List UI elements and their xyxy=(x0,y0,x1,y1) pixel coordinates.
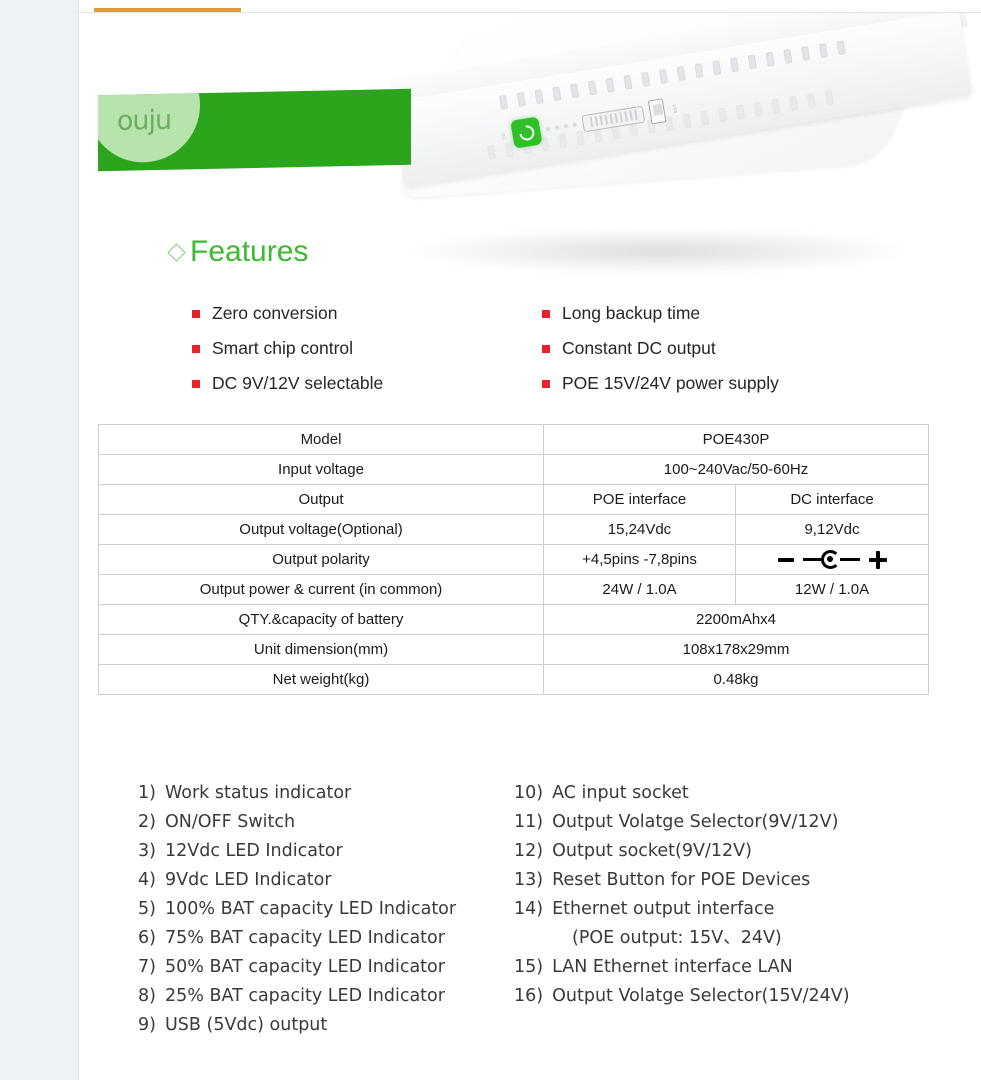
features-heading: Features xyxy=(170,235,308,269)
legend-sub-note: (POE output: 15V、24V) xyxy=(514,924,959,953)
feature-label: Constant DC output xyxy=(562,338,716,360)
legend-label: ON/OFF Switch xyxy=(165,808,295,837)
table-row: QTY.&capacity of battery 2200mAhx4 xyxy=(99,605,929,635)
list-item: 6) 75% BAT capacity LED Indicator xyxy=(129,924,514,953)
feature-item: Constant DC output xyxy=(542,338,952,360)
panel-vent-slot xyxy=(582,105,646,132)
usb-side-label: USB xyxy=(672,104,678,114)
spec-value-dc: 12W / 1.0A xyxy=(736,575,929,605)
product-photo: DC USB xyxy=(379,18,939,288)
spec-label: Output voltage(Optional) xyxy=(99,515,544,545)
legend-number: 1) xyxy=(129,779,165,808)
spec-label: Output polarity xyxy=(99,545,544,575)
bullet-icon xyxy=(192,380,200,388)
bullet-icon xyxy=(192,310,200,318)
feature-item: POE 15V/24V power supply xyxy=(542,373,952,395)
legend-column-left: 1) Work status indicator 2) ON/OFF Switc… xyxy=(129,779,514,1040)
product-shadow xyxy=(409,228,909,274)
list-item: 14) Ethernet output interface xyxy=(514,895,959,924)
legend-number: 16) xyxy=(514,982,552,1011)
spec-value: 0.48kg xyxy=(544,665,929,695)
legend-label: 100% BAT capacity LED Indicator xyxy=(165,895,456,924)
active-tab-indicator[interactable] xyxy=(94,0,241,12)
list-item: 11) Output Volatge Selector(9V/12V) xyxy=(514,808,959,837)
spec-label: QTY.&capacity of battery xyxy=(99,605,544,635)
spec-value-poe: POE interface xyxy=(544,485,736,515)
legend-number: 12) xyxy=(514,837,552,866)
feature-label: POE 15V/24V power supply xyxy=(562,373,779,395)
spec-label: Net weight(kg) xyxy=(99,665,544,695)
legend-label: Ethernet output interface xyxy=(552,895,774,924)
legend-label: Output Volatge Selector(15V/24V) xyxy=(552,982,849,1011)
table-row: Output POE interface DC interface xyxy=(99,485,929,515)
list-item: 7) 50% BAT capacity LED Indicator xyxy=(129,953,514,982)
legend-number: 8) xyxy=(129,982,165,1011)
spec-label: Unit dimension(mm) xyxy=(99,635,544,665)
spec-label: Input voltage xyxy=(99,455,544,485)
specification-table: Model POE430P Input voltage 100~240Vac/5… xyxy=(98,424,929,695)
legend-number: 14) xyxy=(514,895,552,924)
legend-label: 9Vdc LED Indicator xyxy=(165,866,332,895)
legend-label: USB (5Vdc) output xyxy=(165,1011,327,1040)
list-item: 16) Output Volatge Selector(15V/24V) xyxy=(514,982,959,1011)
page-root: DC USB ouju xyxy=(0,0,981,1080)
panel-side-label: DC xyxy=(501,133,507,140)
table-row: Input voltage 100~240Vac/50-60Hz xyxy=(99,455,929,485)
table-row: Unit dimension(mm) 108x178x29mm xyxy=(99,635,929,665)
list-item: 9) USB (5Vdc) output xyxy=(129,1011,514,1040)
usb-port-icon xyxy=(648,98,667,124)
legend-label: Work status indicator xyxy=(165,779,351,808)
spec-value-poe: 24W / 1.0A xyxy=(544,575,736,605)
legend-number: 6) xyxy=(129,924,165,953)
table-row: Output polarity +4,5pins -7,8pins xyxy=(99,545,929,575)
list-item: 10) AC input socket xyxy=(514,779,959,808)
legend-number: 5) xyxy=(129,895,165,924)
legend-label: 75% BAT capacity LED Indicator xyxy=(165,924,445,953)
legend-number: 13) xyxy=(514,866,552,895)
spec-value-dc: 9,12Vdc xyxy=(736,515,929,545)
brand-badge-text: ouju xyxy=(117,105,171,163)
legend-number: 9) xyxy=(129,1011,165,1040)
feature-item: Smart chip control xyxy=(192,338,542,360)
port-legend: 1) Work status indicator 2) ON/OFF Switc… xyxy=(129,779,959,1040)
legend-label: AC input socket xyxy=(552,779,689,808)
legend-column-right: 10) AC input socket 11) Output Volatge S… xyxy=(514,779,959,1040)
legend-label: 50% BAT capacity LED Indicator xyxy=(165,953,445,982)
table-row: Output power & current (in common) 24W /… xyxy=(99,575,929,605)
table-row: Model POE430P xyxy=(99,425,929,455)
spec-label: Output xyxy=(99,485,544,515)
feature-item: Zero conversion xyxy=(192,303,542,325)
browser-tab-strip xyxy=(79,0,981,13)
list-item: 3) 12Vdc LED Indicator xyxy=(129,837,514,866)
page-content: DC USB ouju xyxy=(79,13,981,1080)
brand-banner: ouju xyxy=(98,89,411,172)
list-item: 13) Reset Button for POE Devices xyxy=(514,866,959,895)
legend-number: 15) xyxy=(514,953,552,982)
legend-number: 2) xyxy=(129,808,165,837)
features-title: Features xyxy=(190,235,308,269)
spec-value: 100~240Vac/50-60Hz xyxy=(544,455,929,485)
legend-number: 7) xyxy=(129,953,165,982)
dc-polarity-symbol-icon xyxy=(740,549,924,571)
spec-value: POE430P xyxy=(544,425,929,455)
bullet-icon xyxy=(542,345,550,353)
list-item: 1) Work status indicator xyxy=(129,779,514,808)
bullet-icon xyxy=(542,380,550,388)
legend-label: 25% BAT capacity LED Indicator xyxy=(165,982,445,1011)
spec-value-poe: +4,5pins -7,8pins xyxy=(544,545,736,575)
list-item: 8) 25% BAT capacity LED Indicator xyxy=(129,982,514,1011)
features-list: Zero conversion Long backup time Smart c… xyxy=(192,303,952,395)
legend-number: 10) xyxy=(514,779,552,808)
spec-value: 108x178x29mm xyxy=(544,635,929,665)
bullet-icon xyxy=(192,345,200,353)
spec-value-dc-polarity xyxy=(736,545,929,575)
feature-label: Long backup time xyxy=(562,303,700,325)
diamond-icon xyxy=(167,243,185,261)
list-item: 4) 9Vdc LED Indicator xyxy=(129,866,514,895)
spec-value-dc: DC interface xyxy=(736,485,929,515)
list-item: 15) LAN Ethernet interface LAN xyxy=(514,953,959,982)
legend-label: Output socket(9V/12V) xyxy=(552,837,752,866)
spec-label: Output power & current (in common) xyxy=(99,575,544,605)
legend-label: LAN Ethernet interface LAN xyxy=(552,953,793,982)
legend-label: Reset Button for POE Devices xyxy=(552,866,810,895)
table-row: Net weight(kg) 0.48kg xyxy=(99,665,929,695)
brand-badge: ouju xyxy=(98,89,200,164)
table-row: Output voltage(Optional) 15,24Vdc 9,12Vd… xyxy=(99,515,929,545)
legend-number: 3) xyxy=(129,837,165,866)
bullet-icon xyxy=(542,310,550,318)
left-gutter xyxy=(0,0,79,1080)
feature-item: Long backup time xyxy=(542,303,952,325)
spec-value-poe: 15,24Vdc xyxy=(544,515,736,545)
legend-number: 4) xyxy=(129,866,165,895)
feature-label: Zero conversion xyxy=(212,303,337,325)
spec-label: Model xyxy=(99,425,544,455)
power-button-icon xyxy=(511,116,543,148)
spec-value: 2200mAhx4 xyxy=(544,605,929,635)
feature-label: Smart chip control xyxy=(212,338,353,360)
legend-label: 12Vdc LED Indicator xyxy=(165,837,343,866)
legend-label: Output Volatge Selector(9V/12V) xyxy=(552,808,838,837)
legend-number: 11) xyxy=(514,808,552,837)
feature-item: DC 9V/12V selectable xyxy=(192,373,542,395)
feature-label: DC 9V/12V selectable xyxy=(212,373,383,395)
list-item: 12) Output socket(9V/12V) xyxy=(514,837,959,866)
led-indicator-group xyxy=(546,122,577,131)
list-item: 2) ON/OFF Switch xyxy=(129,808,514,837)
list-item: 5) 100% BAT capacity LED Indicator xyxy=(129,895,514,924)
